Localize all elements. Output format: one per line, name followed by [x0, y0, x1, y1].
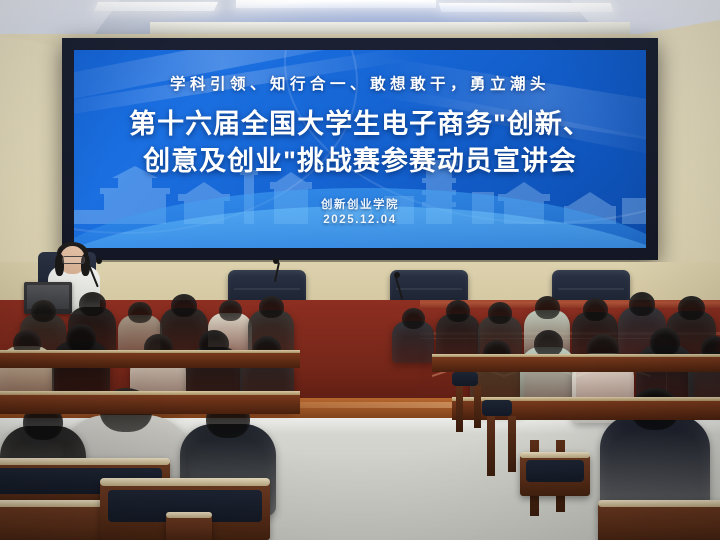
seat-back-inner-panel: [526, 460, 584, 482]
screen-date: 2025.12.04: [74, 214, 646, 226]
conference-hall-screenshot: 学科引领、知行合一、敢想敢干，勇立潮头 第十六届全国大学生电子商务"创新、 创意…: [0, 0, 720, 540]
screen-title: 第十六届全国大学生电子商务"创新、 创意及创业"挑战赛参赛动员宣讲会: [74, 106, 646, 180]
audience-member-head: [678, 296, 705, 320]
desk-row-back: [0, 352, 300, 368]
seat-back-trim: [0, 458, 170, 465]
microphone-head: [273, 258, 279, 264]
desk-row-back-right: [432, 356, 720, 372]
audience-member-head: [583, 298, 608, 321]
screen-title-line-2: 创意及创业"挑战赛参赛动员宣讲会: [74, 143, 646, 180]
presenter-microphone-head: [96, 258, 102, 264]
desk-leg: [474, 386, 481, 428]
audience-member-head: [488, 302, 512, 324]
desk-leg: [487, 416, 495, 476]
audience-member-head: [402, 308, 425, 329]
desk-edge: [0, 350, 300, 353]
desk-edge: [0, 391, 300, 395]
aisle-desk-end: [482, 400, 512, 416]
audience-member-head: [535, 296, 560, 319]
audience-member-head: [219, 300, 242, 321]
audience-member-head: [79, 292, 106, 316]
screen-organizer: 创新创业学院: [74, 196, 646, 212]
microphone-head: [394, 272, 400, 278]
presenter-glasses: [62, 256, 85, 264]
audience-member-head: [128, 302, 152, 323]
desk-leg: [456, 386, 463, 432]
audience-member-head: [534, 330, 563, 357]
audience-member-head: [259, 296, 284, 318]
seat-back-trim: [598, 500, 720, 507]
screen-slogan: 学科引领、知行合一、敢想敢干，勇立潮头: [74, 72, 646, 94]
audience-member: [392, 308, 434, 371]
aisle-desk-end: [452, 372, 478, 386]
audience-member-head: [171, 294, 197, 317]
desk-edge: [432, 354, 720, 357]
screen-title-line-1: 第十六届全国大学生电子商务"创新、: [74, 106, 646, 143]
audience-member-head: [446, 300, 470, 322]
led-screen[interactable]: 学科引领、知行合一、敢想敢干，勇立潮头 第十六届全国大学生电子商务"创新、 创意…: [74, 50, 646, 248]
desk-row-mid: [0, 394, 300, 414]
seat-arm-trim: [166, 512, 212, 518]
desk-leg: [508, 416, 516, 472]
seat-back-trim: [520, 452, 590, 458]
audience-member-head: [66, 324, 96, 352]
audience-member-head: [650, 328, 680, 356]
audience-member-head: [629, 292, 655, 316]
seat-back-trim: [100, 478, 270, 486]
audience-member-head: [31, 300, 56, 322]
led-screen-bezel: 学科引领、知行合一、敢想敢干，勇立潮头 第十六届全国大学生电子商务"创新、 创意…: [62, 38, 658, 260]
